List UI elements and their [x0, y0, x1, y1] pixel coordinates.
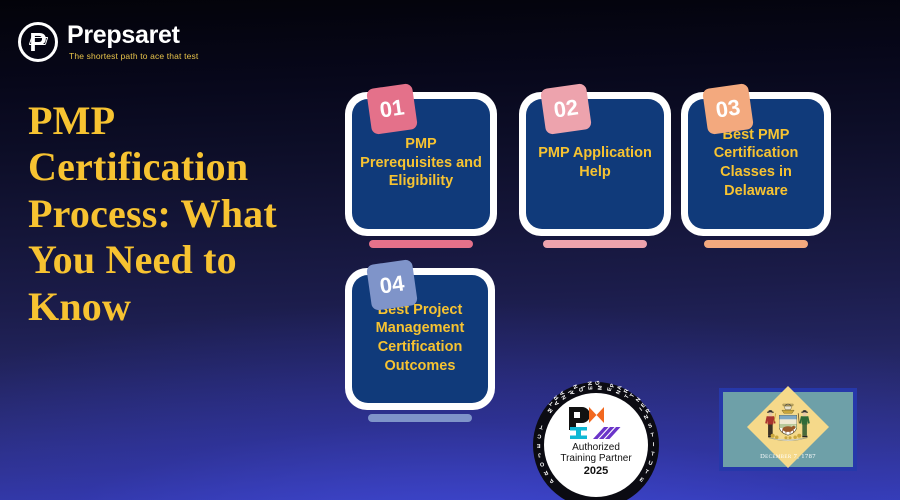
card-number-3: 03 — [714, 94, 742, 123]
seal-line-3: 2025 — [584, 465, 608, 477]
delaware-state-flag: December 7, 1787 — [719, 388, 857, 471]
pmi-logo-icon — [567, 405, 625, 439]
delaware-coat-of-arms-icon — [762, 402, 814, 448]
step-card-3[interactable]: Best PMP Certification Classes in Delawa… — [681, 92, 831, 236]
card-title-1: PMP Prerequisites and Eligibility — [360, 135, 482, 191]
card-number-badge-2: 02 — [540, 83, 592, 135]
card-number-badge-1: 01 — [366, 83, 418, 135]
card-underbar-3 — [704, 240, 808, 248]
card-frame-3: Best PMP Certification Classes in Delawa… — [681, 92, 831, 236]
brand-logo[interactable]: P Prepsaret The shortest path to ace tha… — [18, 22, 198, 62]
card-underbar-2 — [543, 240, 647, 248]
page-title: PMP Certification Process: What You Need… — [28, 98, 328, 330]
circle-p-logo-icon: P — [18, 22, 58, 62]
card-number-4: 04 — [378, 270, 406, 299]
step-card-4[interactable]: Best Project Management Certification Ou… — [345, 268, 495, 410]
seal-line-1: Authorized — [572, 442, 620, 453]
card-frame-4: Best Project Management Certification Ou… — [345, 268, 495, 410]
card-underbar-1 — [369, 240, 473, 248]
seal-inner: Authorized Training Partner 2025 — [544, 393, 648, 497]
card-number-1: 01 — [378, 94, 406, 123]
card-title-3: Best PMP Certification Classes in Delawa… — [696, 126, 816, 200]
card-title-4: Best Project Management Certification Ou… — [360, 301, 480, 375]
logo-slash-icon — [29, 37, 49, 45]
card-title-2: PMP Application Help — [534, 144, 656, 181]
flag-date-text: December 7, 1787 — [723, 453, 853, 460]
card-number-2: 02 — [552, 94, 580, 123]
brand-name: Prepsaret — [67, 23, 198, 48]
poster-canvas: P Prepsaret The shortest path to ace tha… — [0, 0, 900, 500]
card-underbar-4 — [368, 414, 472, 422]
card-frame-2: PMP Application Help — [519, 92, 671, 236]
brand-words: Prepsaret The shortest path to ace that … — [67, 23, 198, 61]
step-card-2[interactable]: PMP Application Help 02 — [519, 92, 671, 236]
card-frame-1: PMP Prerequisites and Eligibility — [345, 92, 497, 236]
seal-line-2: Training Partner — [560, 453, 631, 464]
step-card-1[interactable]: PMP Prerequisites and Eligibility 01 — [345, 92, 497, 236]
pmi-authorized-training-partner-seal: PROJECT MANAGEMENT INSTITUTETRAINING PAR… — [533, 382, 659, 500]
card-number-badge-4: 04 — [366, 259, 418, 311]
card-number-badge-3: 03 — [702, 83, 754, 135]
brand-tagline: The shortest path to ace that test — [69, 52, 198, 61]
